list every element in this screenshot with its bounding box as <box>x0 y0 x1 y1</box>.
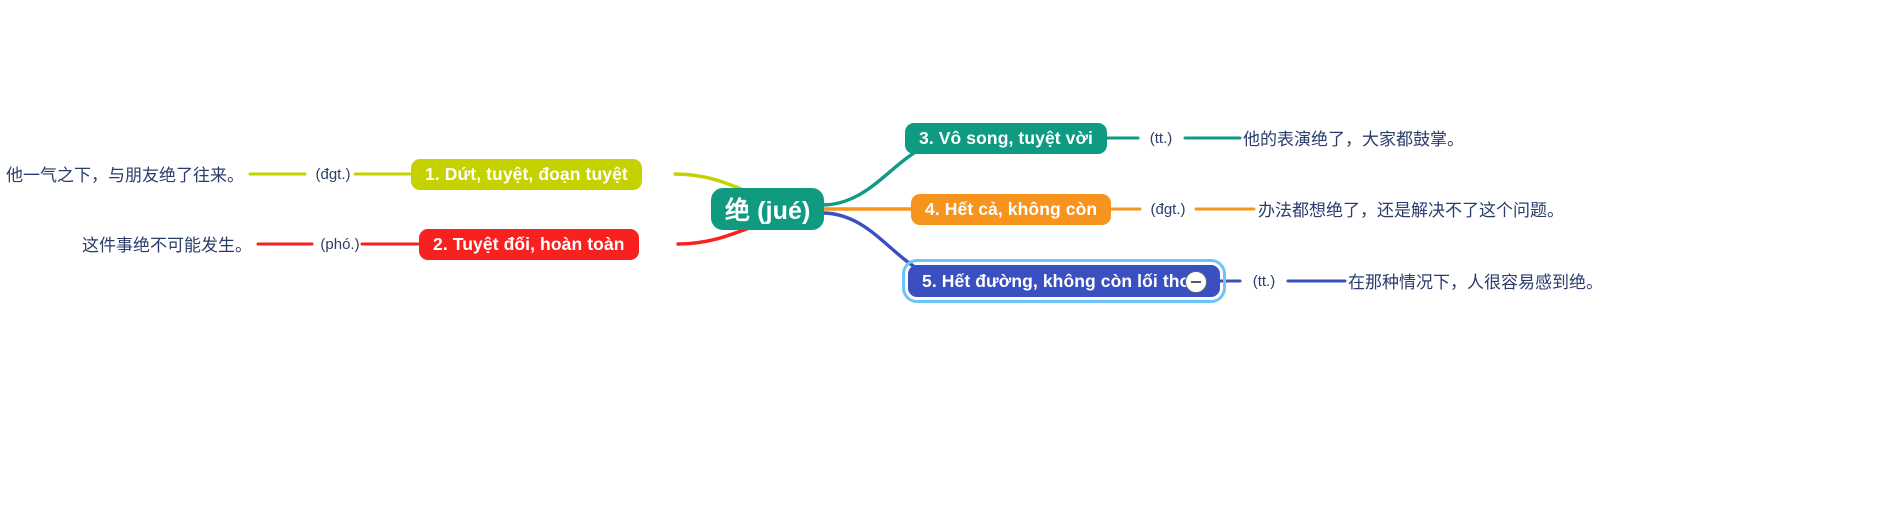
mindmap-example-1[interactable]: 他一气之下，与朋友绝了往来。 <box>0 161 244 185</box>
mindmap-pos-label-3[interactable]: (tt.) <box>1139 127 1183 149</box>
mindmap-pos-label-2[interactable]: (phó.) <box>316 233 364 255</box>
mindmap-branch-node-2[interactable]: 2. Tuyệt đối, hoàn toàn <box>419 229 639 260</box>
mindmap-pos-label-text-4: (đgt.) <box>1150 201 1185 218</box>
mindmap-branch-label-1: 1. Dứt, tuyệt, đoạn tuyệt <box>425 164 628 185</box>
mindmap-pos-label-text-3: (tt.) <box>1150 130 1173 147</box>
mindmap-pos-label-text-2: (phó.) <box>320 236 359 253</box>
mindmap-example-text-3: 他的表演绝了，大家都鼓掌。 <box>1243 125 1464 150</box>
minus-circle-icon[interactable] <box>1185 271 1207 293</box>
mindmap-root-node[interactable]: 绝 (jué) <box>711 188 824 230</box>
mindmap-branch-node-1[interactable]: 1. Dứt, tuyệt, đoạn tuyệt <box>411 159 642 190</box>
mindmap-example-text-5: 在那种情况下，人很容易感到绝。 <box>1348 268 1603 293</box>
mindmap-example-text-4: 办法都想绝了，还是解决不了这个问题。 <box>1258 196 1564 221</box>
mindmap-branch-node-5[interactable]: 5. Hết đường, không còn lối thoát <box>908 265 1220 297</box>
mindmap-root-label: 绝 (jué) <box>725 191 810 227</box>
mindmap-edges <box>0 0 1894 525</box>
mindmap-pos-label-text-5: (tt.) <box>1253 273 1276 290</box>
mindmap-pos-label-text-1: (đgt.) <box>315 166 350 183</box>
mindmap-canvas[interactable]: 绝 (jué) 1. Dứt, tuyệt, đoạn tuyệt (đgt.)… <box>0 0 1894 525</box>
minus-icon-bar <box>1191 281 1201 283</box>
mindmap-example-text-1: 他一气之下，与朋友绝了往来。 <box>6 161 244 186</box>
mindmap-branch-node-4[interactable]: 4. Hết cả, không còn <box>911 194 1111 225</box>
mindmap-example-5[interactable]: 在那种情况下，人很容易感到绝。 <box>1348 268 1603 292</box>
mindmap-branch-label-4: 4. Hết cả, không còn <box>925 199 1097 220</box>
mindmap-example-2[interactable]: 这件事绝不可能发生。 <box>0 231 252 255</box>
mindmap-example-text-2: 这件事绝不可能发生。 <box>82 231 252 256</box>
mindmap-example-3[interactable]: 他的表演绝了，大家都鼓掌。 <box>1243 125 1464 149</box>
mindmap-pos-label-5[interactable]: (tt.) <box>1242 270 1286 292</box>
mindmap-branch-label-5: 5. Hết đường, không còn lối thoát <box>922 271 1206 292</box>
mindmap-example-4[interactable]: 办法都想绝了，还是解决不了这个问题。 <box>1258 196 1564 220</box>
mindmap-branch-node-3[interactable]: 3. Vô song, tuyệt vời <box>905 123 1107 154</box>
mindmap-pos-label-4[interactable]: (đgt.) <box>1141 198 1195 220</box>
mindmap-branch-label-3: 3. Vô song, tuyệt vời <box>919 128 1093 149</box>
mindmap-branch-label-2: 2. Tuyệt đối, hoàn toàn <box>433 234 625 255</box>
mindmap-pos-label-1[interactable]: (đgt.) <box>310 163 356 185</box>
